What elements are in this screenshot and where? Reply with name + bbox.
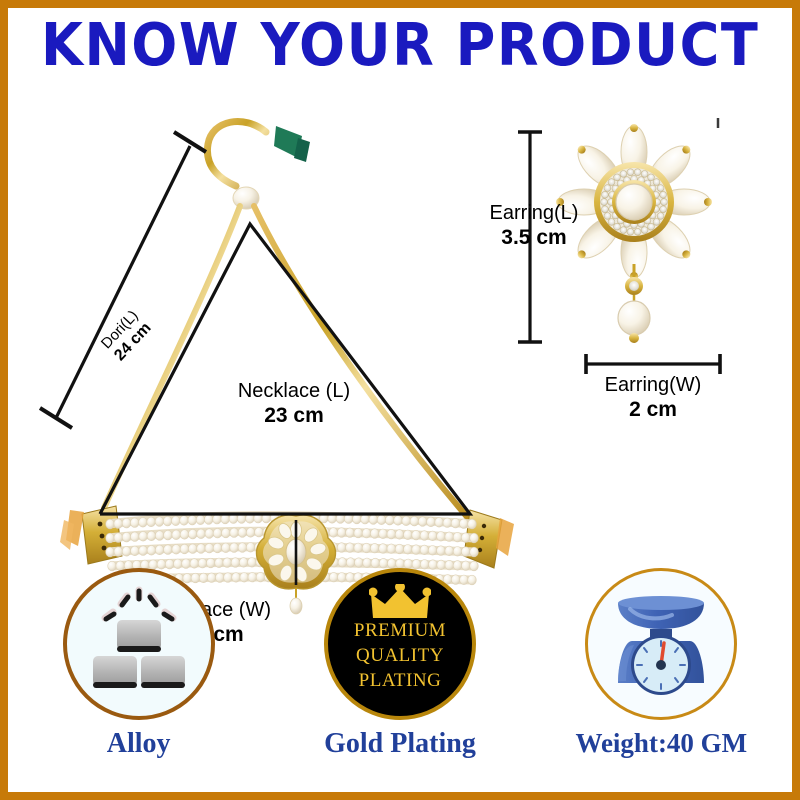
- weight-badge-label: Weight:40 GM: [575, 728, 747, 759]
- necklace-diagram: Dori(L) 24 cm Necklace (L) 23 cm Necklac…: [8, 80, 528, 570]
- weighing-scale-icon: [600, 583, 722, 705]
- metal-ingots-icon: [79, 584, 199, 704]
- necklace-measurement-lines: [8, 80, 528, 570]
- page-title: KNOW YOUR PRODUCT: [41, 10, 759, 79]
- alloy-badge-label: Alloy: [107, 728, 171, 760]
- alloy-badge-circle: [63, 568, 215, 720]
- badge-line-3: PLATING: [328, 668, 472, 693]
- badge-weight: Weight:40 GM: [541, 568, 781, 759]
- earring-length-label: Earring(L) 3.5 cm: [474, 202, 594, 250]
- earring-diagram: Earring(L) 3.5 cm Earring(W) 2 cm: [468, 80, 792, 450]
- badge-alloy: Alloy: [19, 568, 259, 760]
- gold-plating-badge-label: Gold Plating: [324, 728, 476, 760]
- gold-plating-badge-circle: PREMIUM QUALITY PLATING: [324, 568, 476, 720]
- feature-badges: Alloy PREMIUM QUALITY PLATING Gold Plati…: [8, 568, 792, 792]
- weight-badge-circle: [585, 568, 737, 720]
- gold-plating-badge-text: PREMIUM QUALITY PLATING: [328, 618, 472, 693]
- badge-line-2: QUALITY: [328, 643, 472, 668]
- product-infographic: KNOW YOUR PRODUCT: [0, 0, 800, 800]
- header-banner: KNOW YOUR PRODUCT: [8, 8, 792, 80]
- badge-gold-plating: PREMIUM QUALITY PLATING Gold Plating: [280, 568, 520, 760]
- crown-icon: [369, 584, 431, 622]
- earring-width-label: Earring(W) 2 cm: [574, 374, 732, 422]
- badge-line-1: PREMIUM: [328, 618, 472, 643]
- necklace-length-label: Necklace (L) 23 cm: [204, 380, 384, 428]
